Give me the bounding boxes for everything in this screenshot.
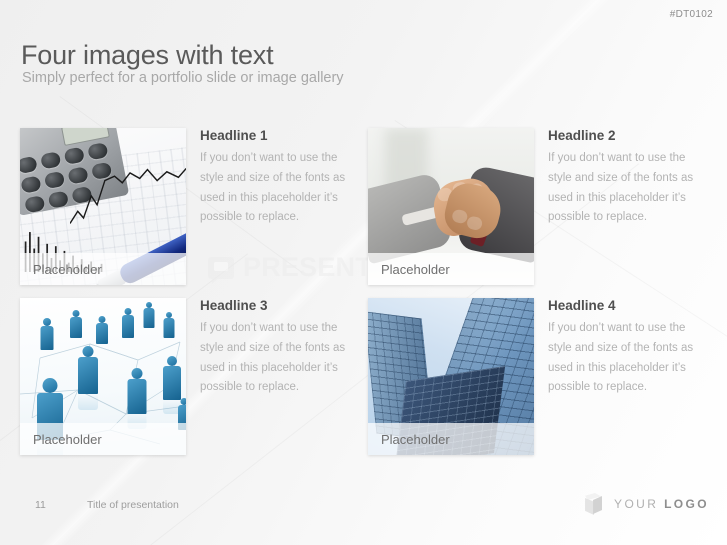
headline-4: Headline 4 xyxy=(548,298,700,313)
cube-icon xyxy=(582,493,604,515)
text-column-4: Headline 4 If you don’t want to use the … xyxy=(548,298,700,398)
image-placeholder-2[interactable]: Placeholder xyxy=(368,128,534,285)
text-column-2: Headline 2 If you don’t want to use the … xyxy=(548,128,700,228)
page-subtitle: Simply perfect for a portfolio slide or … xyxy=(22,70,344,86)
image-caption-bar-4: Placeholder xyxy=(368,423,534,455)
headline-1: Headline 1 xyxy=(200,128,352,143)
image-caption-1: Placeholder xyxy=(20,262,102,277)
headline-3: Headline 3 xyxy=(200,298,352,313)
headline-2: Headline 2 xyxy=(548,128,700,143)
page-number: 11 xyxy=(35,499,46,511)
logo-text-bold: LOGO xyxy=(664,497,709,511)
image-placeholder-4[interactable]: Placeholder xyxy=(368,298,534,455)
body-text-1: If you don’t want to use the style and s… xyxy=(200,149,352,228)
image-placeholder-3[interactable]: Placeholder xyxy=(20,298,186,455)
speech-bubble-icon xyxy=(208,257,234,279)
page-title: Four images with text xyxy=(21,40,273,71)
image-caption-3: Placeholder xyxy=(20,432,102,447)
image-caption-4: Placeholder xyxy=(368,432,450,447)
logo-text-light: YOUR xyxy=(614,497,658,511)
image-placeholder-1[interactable]: Placeholder xyxy=(20,128,186,285)
image-caption-2: Placeholder xyxy=(368,262,450,277)
image-caption-bar-2: Placeholder xyxy=(368,253,534,285)
logo[interactable]: YOUR LOGO xyxy=(582,493,709,515)
body-text-2: If you don’t want to use the style and s… xyxy=(548,149,700,228)
image-caption-bar-1: Placeholder xyxy=(20,253,186,285)
body-text-3: If you don’t want to use the style and s… xyxy=(200,319,352,398)
text-column-1: Headline 1 If you don’t want to use the … xyxy=(200,128,352,228)
image-caption-bar-3: Placeholder xyxy=(20,423,186,455)
template-code: #DT0102 xyxy=(670,9,713,20)
slide-canvas: #DT0102 Four images with text Simply per… xyxy=(0,0,727,545)
body-text-4: If you don’t want to use the style and s… xyxy=(548,319,700,398)
footer-title: Title of presentation xyxy=(87,499,179,511)
text-column-3: Headline 3 If you don’t want to use the … xyxy=(200,298,352,398)
logo-text: YOUR LOGO xyxy=(614,497,709,511)
